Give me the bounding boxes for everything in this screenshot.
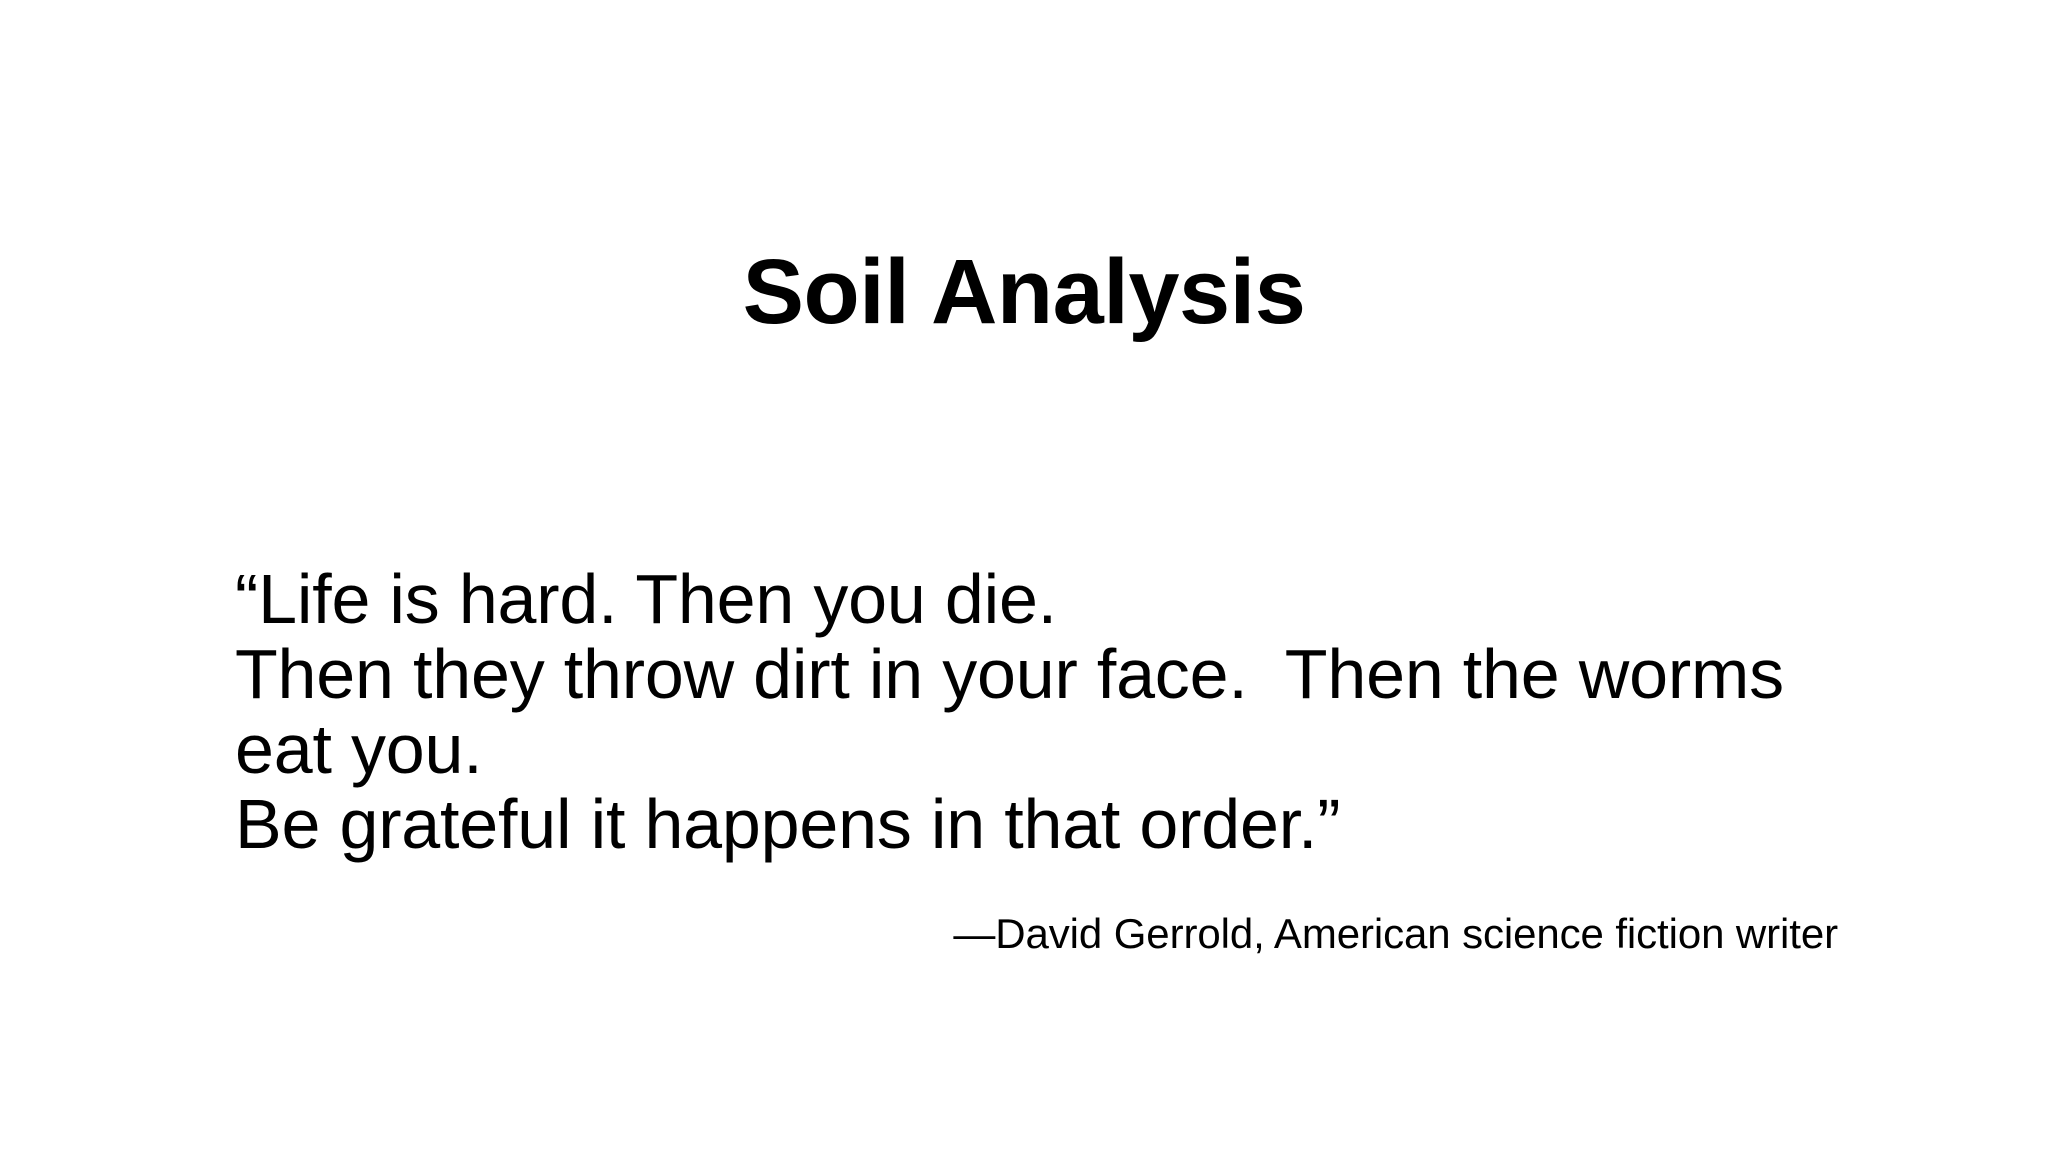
quote-attribution: —David Gerrold, American science fiction… <box>235 908 1838 960</box>
presentation-slide: Soil Analysis “Life is hard. Then you di… <box>0 0 2048 1152</box>
quote-line: Be grateful it happens in that order.” <box>235 787 1845 862</box>
quote-line: “Life is hard. Then you die. <box>235 562 1845 637</box>
page-title: Soil Analysis <box>0 240 2048 344</box>
quote-line: Then they throw dirt in your face. Then … <box>235 637 1845 712</box>
quote-block: “Life is hard. Then you die. Then they t… <box>235 562 1845 862</box>
quote-line: eat you. <box>235 712 1845 787</box>
